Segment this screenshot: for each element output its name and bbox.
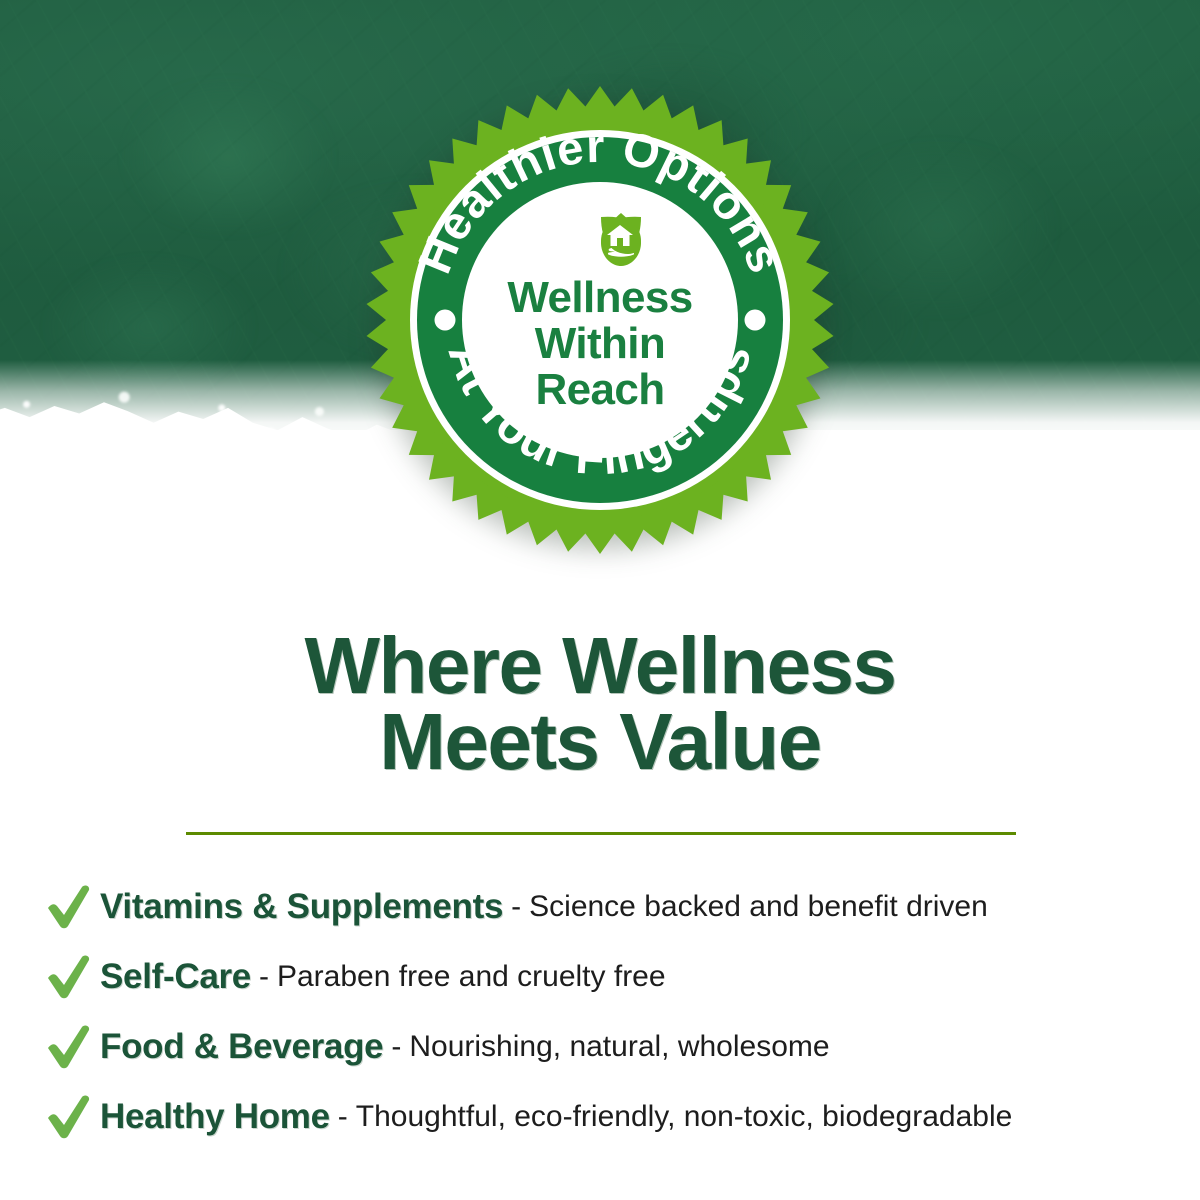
badge-center-line-2: Within — [535, 321, 665, 367]
list-item-dash: - — [391, 1030, 401, 1064]
check-mark-icon — [38, 1024, 100, 1070]
badge-center-line-1: Wellness — [507, 275, 692, 321]
list-item-description: Science backed and benefit driven — [529, 890, 988, 924]
list-item-title: Self-Care — [100, 957, 251, 997]
page-title-line-2: Meets Value — [0, 704, 1200, 780]
list-item: Vitamins & Supplements - Science backed … — [38, 872, 1198, 942]
list-item-description: Nourishing, natural, wholesome — [409, 1030, 829, 1064]
page-title: Where Wellness Meets Value — [0, 628, 1200, 780]
feature-list: Vitamins & Supplements - Science backed … — [38, 872, 1198, 1152]
list-item-description: Paraben free and cruelty free — [277, 960, 666, 994]
wellness-badge: Healthier Options At Your Fingertips Wel… — [364, 84, 836, 556]
list-item-dash: - — [259, 960, 269, 994]
list-item-title: Food & Beverage — [100, 1027, 383, 1067]
list-item-title: Vitamins & Supplements — [100, 887, 503, 927]
badge-center-line-3: Reach — [535, 367, 664, 413]
list-item-dash: - — [511, 890, 521, 924]
title-divider — [186, 832, 1016, 835]
page-title-line-1: Where Wellness — [0, 628, 1200, 704]
list-item-dash: - — [338, 1100, 348, 1134]
list-item: Self-Care - Paraben free and cruelty fre… — [38, 942, 1198, 1012]
list-item-description: Thoughtful, eco-friendly, non-toxic, bio… — [356, 1100, 1013, 1134]
list-item: Food & Beverage - Nourishing, natural, w… — [38, 1012, 1198, 1082]
check-mark-icon — [38, 884, 100, 930]
check-mark-icon — [38, 954, 100, 1000]
list-item: Healthy Home - Thoughtful, eco-friendly,… — [38, 1082, 1198, 1152]
check-mark-icon — [38, 1094, 100, 1140]
list-item-title: Healthy Home — [100, 1097, 330, 1137]
badge-center-text: Wellness Within Reach — [364, 84, 836, 556]
